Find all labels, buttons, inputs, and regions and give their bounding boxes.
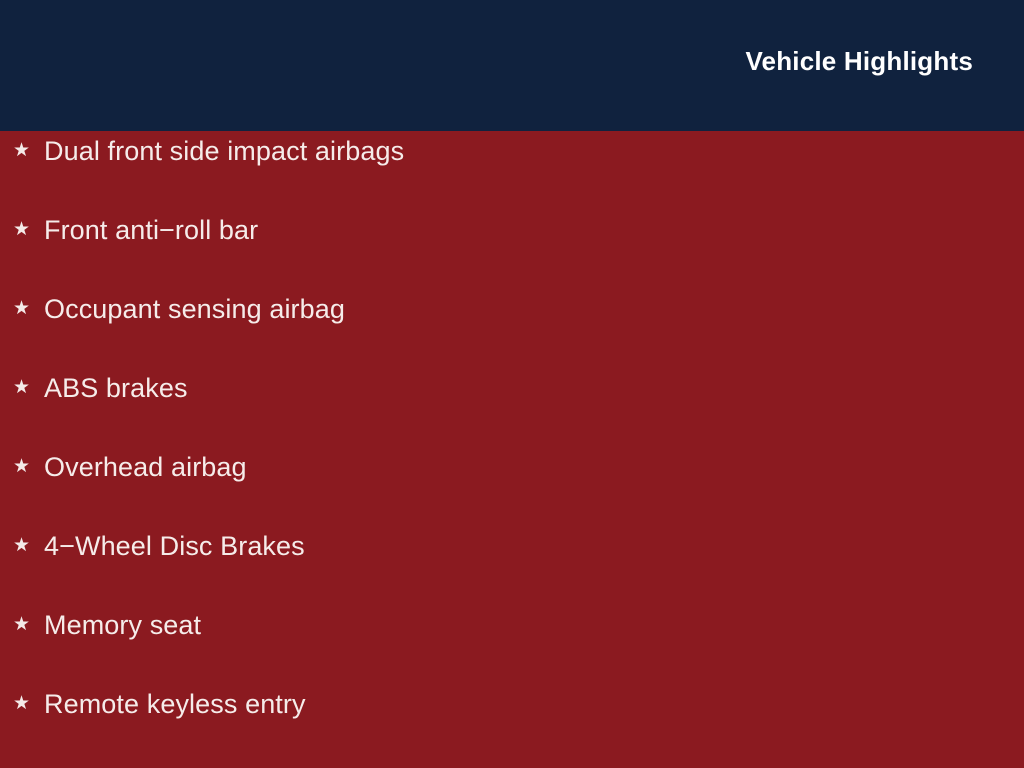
highlights-body: ★ Dual front side impact airbags ★ Front…: [0, 131, 1024, 768]
page-title: Vehicle Highlights: [745, 48, 973, 74]
star-icon: ★: [13, 447, 35, 487]
star-icon: ★: [13, 368, 35, 408]
list-item-label: Occupant sensing airbag: [44, 289, 345, 329]
list-item-label: Dual front side impact airbags: [44, 131, 404, 171]
star-icon: ★: [13, 210, 35, 250]
star-icon: ★: [13, 605, 35, 645]
list-item-label: 4−Wheel Disc Brakes: [44, 526, 305, 566]
star-icon: ★: [13, 289, 35, 329]
list-item-label: Remote keyless entry: [44, 684, 306, 724]
vehicle-highlights-slide: Vehicle Highlights ★ Dual front side imp…: [0, 0, 1024, 768]
list-item-label: Front anti−roll bar: [44, 210, 258, 250]
list-item: ★ Remote keyless entry: [0, 684, 1024, 763]
list-item: ★ ABS brakes: [0, 368, 1024, 447]
list-item: ★ Occupant sensing airbag: [0, 289, 1024, 368]
star-icon: ★: [13, 684, 35, 724]
list-item: ★ Memory seat: [0, 605, 1024, 684]
list-item: ★ Front anti−roll bar: [0, 210, 1024, 289]
star-icon: ★: [13, 526, 35, 566]
list-item-label: Memory seat: [44, 605, 201, 645]
list-item: ★ 4−Wheel Disc Brakes: [0, 526, 1024, 605]
header-bar: Vehicle Highlights: [0, 0, 1024, 131]
list-item-label: ABS brakes: [44, 368, 188, 408]
list-item: ★ Overhead airbag: [0, 447, 1024, 526]
list-item: ★ Dual front side impact airbags: [0, 131, 1024, 210]
star-icon: ★: [13, 131, 35, 171]
list-item-label: Overhead airbag: [44, 447, 247, 487]
vehicle-highlights-list: ★ Dual front side impact airbags ★ Front…: [0, 131, 1024, 763]
